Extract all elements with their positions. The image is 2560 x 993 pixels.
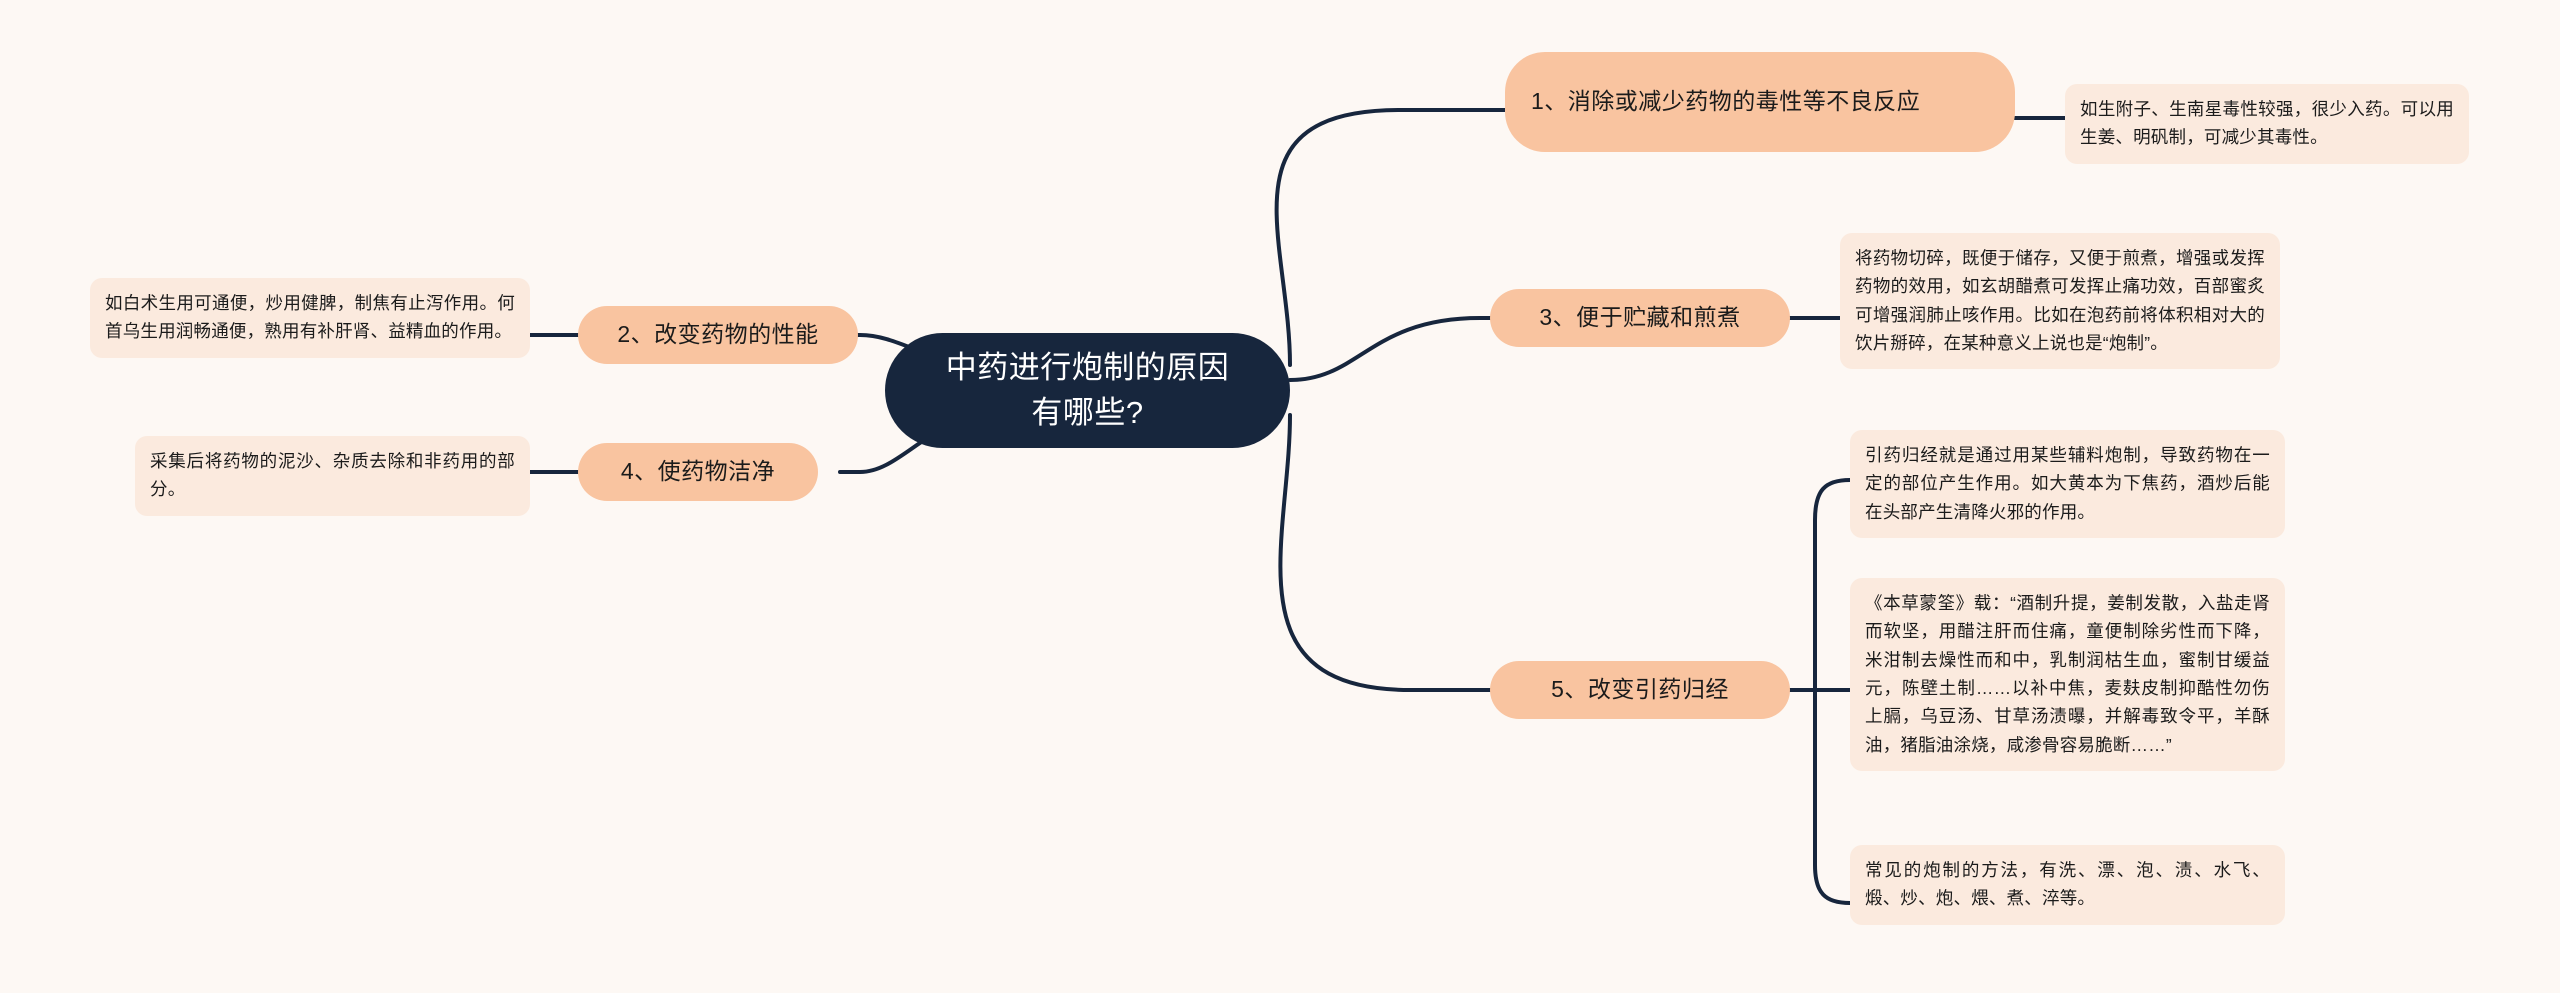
detail-node-5-2-text: 《本草蒙筌》载：“酒制升提，姜制发散，入盐走肾而软坚，用醋注肝而住痛，童便制除劣… xyxy=(1865,593,2270,755)
topic-node-4[interactable]: 4、使药物洁净 xyxy=(578,443,818,501)
detail-node-3-1[interactable]: 将药物切碎，既便于储存，又便于煎煮，增强或发挥药物的效用，如玄胡醋煮可发挥止痛功… xyxy=(1840,233,2280,369)
topic-node-5[interactable]: 5、改变引药归经 xyxy=(1490,661,1790,719)
detail-node-2-1-text: 如白术生用可通便，炒用健脾，制焦有止泻作用。何首乌生用润畅通便，熟用有补肝肾、益… xyxy=(105,293,515,341)
topic-node-2[interactable]: 2、改变药物的性能 xyxy=(578,306,858,364)
root-node-label: 中药进行炮制的原因有哪些? xyxy=(931,346,1244,434)
detail-node-1-1-text: 如生附子、生南星毒性较强，很少入药。可以用生姜、明矾制，可减少其毒性。 xyxy=(2080,99,2454,147)
topic-node-2-label: 2、改变药物的性能 xyxy=(617,318,818,351)
connector-branch-5-detail-1 xyxy=(1790,480,1850,690)
detail-node-4-1[interactable]: 采集后将药物的泥沙、杂质去除和非药用的部分。 xyxy=(135,436,530,516)
detail-node-2-1[interactable]: 如白术生用可通便，炒用健脾，制焦有止泻作用。何首乌生用润畅通便，熟用有补肝肾、益… xyxy=(90,278,530,358)
detail-node-5-1-text: 引药归经就是通过用某些辅料炮制，导致药物在一定的部位产生作用。如大黄本为下焦药，… xyxy=(1865,445,2270,522)
detail-node-4-1-text: 采集后将药物的泥沙、杂质去除和非药用的部分。 xyxy=(150,451,515,499)
detail-node-5-1[interactable]: 引药归经就是通过用某些辅料炮制，导致药物在一定的部位产生作用。如大黄本为下焦药，… xyxy=(1850,430,2285,538)
root-node[interactable]: 中药进行炮制的原因有哪些? xyxy=(885,333,1290,448)
topic-node-3-label: 3、便于贮藏和煎煮 xyxy=(1539,301,1740,334)
topic-node-4-label: 4、使药物洁净 xyxy=(621,455,775,488)
topic-node-1[interactable]: 1、消除或减少药物的毒性等不良反应 xyxy=(1505,52,2015,152)
detail-node-1-1[interactable]: 如生附子、生南星毒性较强，很少入药。可以用生姜、明矾制，可减少其毒性。 xyxy=(2065,84,2469,164)
detail-node-5-3-text: 常见的炮制的方法，有洗、漂、泡、渍、水飞、煅、炒、炮、煨、煮、淬等。 xyxy=(1865,860,2270,908)
detail-node-5-2[interactable]: 《本草蒙筌》载：“酒制升提，姜制发散，入盐走肾而软坚，用醋注肝而住痛，童便制除劣… xyxy=(1850,578,2285,771)
detail-node-5-3[interactable]: 常见的炮制的方法，有洗、漂、泡、渍、水飞、煅、炒、炮、煨、煮、淬等。 xyxy=(1850,845,2285,925)
connector-root-to-branch-1 xyxy=(1277,110,1510,365)
detail-node-3-1-text: 将药物切碎，既便于储存，又便于煎煮，增强或发挥药物的效用，如玄胡醋煮可发挥止痛功… xyxy=(1855,248,2265,353)
connector-branch-5-detail-3 xyxy=(1815,690,1850,903)
mindmap-canvas: 中药进行炮制的原因有哪些? 1、消除或减少药物的毒性等不良反应 如生附子、生南星… xyxy=(0,0,2560,993)
topic-node-1-label: 1、消除或减少药物的毒性等不良反应 xyxy=(1531,85,1920,118)
connector-root-to-branch-5 xyxy=(1280,415,1505,690)
connector-root-to-branch-3 xyxy=(1290,318,1520,380)
topic-node-3[interactable]: 3、便于贮藏和煎煮 xyxy=(1490,289,1790,347)
topic-node-5-label: 5、改变引药归经 xyxy=(1551,673,1729,706)
